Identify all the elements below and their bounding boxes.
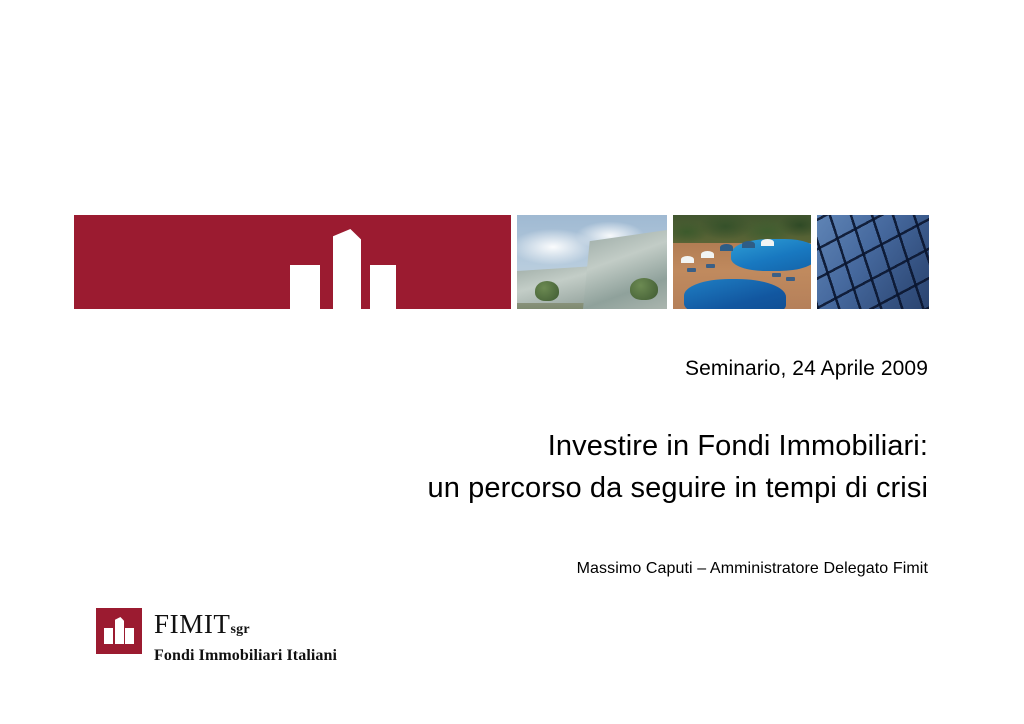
banner-building-tower: [333, 229, 361, 309]
photo-lounger: [706, 264, 715, 268]
logo-bar-tower: [115, 617, 124, 644]
photo-umbrella: [761, 239, 774, 246]
photo-umbrella: [742, 241, 755, 248]
fimit-logo-mark-icon: [96, 608, 142, 654]
photo-lounger: [786, 277, 795, 281]
fimit-logo-name: FIMITsgr: [154, 610, 337, 644]
fimit-logo-suffix: sgr: [231, 622, 250, 637]
fimit-logo: FIMITsgr Fondi Immobiliari Italiani: [96, 608, 337, 666]
fimit-logo-wordmark: FIMIT: [154, 609, 231, 639]
photo-pool-lower: [684, 279, 786, 309]
photo-tree: [630, 278, 658, 300]
blue-glass-facade-photo: [817, 215, 929, 309]
page-title: Investire in Fondi Immobiliari: un perco…: [228, 425, 928, 509]
banner-red-block: [74, 215, 511, 309]
header-banner: [74, 215, 936, 309]
banner-building-bar-right: [370, 265, 396, 309]
photo-lounger: [687, 268, 696, 272]
page-title-line-1: Investire in Fondi Immobiliari:: [228, 425, 928, 467]
logo-bar-left: [104, 628, 113, 644]
photo-umbrella: [720, 244, 733, 251]
logo-bar-right: [125, 628, 134, 644]
page-title-line-2: un percorso da seguire in tempi di crisi: [228, 467, 928, 509]
title-slide: Seminario, 24 Aprile 2009 Investire in F…: [0, 0, 1024, 724]
seminar-date: Seminario, 24 Aprile 2009: [228, 355, 928, 383]
resort-pool-photo: [673, 215, 811, 309]
title-text-block: Seminario, 24 Aprile 2009 Investire in F…: [228, 355, 928, 581]
photo-lounger: [772, 273, 781, 277]
photo-tree: [535, 281, 559, 301]
photo-umbrella: [681, 256, 694, 263]
photo-umbrella: [701, 251, 714, 258]
fimit-logo-text: FIMITsgr Fondi Immobiliari Italiani: [154, 608, 337, 666]
fimit-logo-tagline: Fondi Immobiliari Italiani: [154, 646, 337, 666]
glass-office-building-photo: [517, 215, 667, 309]
speaker-byline: Massimo Caputi – Amministratore Delegato…: [228, 557, 928, 581]
banner-building-bar-left: [290, 265, 320, 309]
